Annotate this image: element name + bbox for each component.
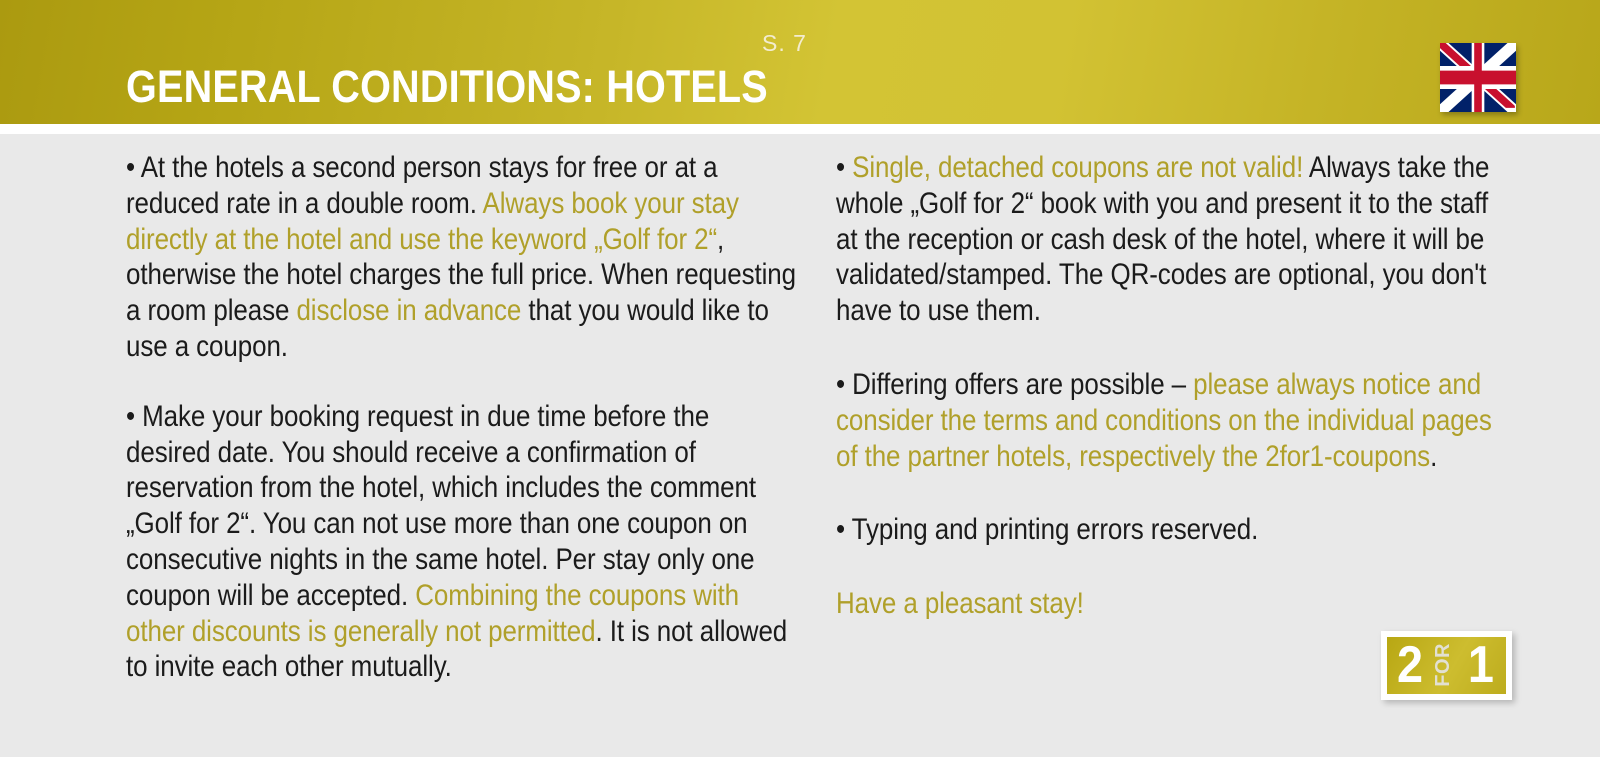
paragraph-typing-printing-errors: • Typing and printing errors reserved. (836, 512, 1512, 548)
text-run: Have a pleasant stay! (836, 587, 1084, 620)
uk-flag-svg (1440, 43, 1516, 112)
text-run: • (126, 151, 141, 184)
logo-denominator: 1 (1468, 637, 1494, 694)
paragraph-closing-greeting: Have a pleasant stay! (836, 586, 1512, 622)
paragraph-single-detached-coupons: • Single, detached coupons are not valid… (836, 150, 1512, 329)
slide-page: S. 7 GENERAL CONDITIONS: HOTELS • At the… (0, 0, 1600, 757)
text-run: Typing and printing errors reserved. (852, 513, 1259, 546)
logo-numerator: 2 (1397, 637, 1423, 694)
text-run: • (836, 368, 852, 401)
header-divider (0, 124, 1600, 134)
logo-connector-for: FOR (1433, 643, 1453, 687)
page-title: GENERAL CONDITIONS: HOTELS (126, 61, 768, 113)
text-run: • (836, 513, 852, 546)
text-run: . (1430, 440, 1437, 473)
text-run: Single, detached coupons are not valid! (852, 151, 1303, 184)
text-run: disclose in advance (296, 294, 521, 327)
content-area: • At the hotels a second person stays fo… (0, 134, 1600, 757)
two-for-one-logo-inner: 2 FOR 1 (1387, 637, 1506, 694)
text-run: Differing offers are possible – (852, 368, 1193, 401)
paragraph-booking-request-in-due-time: • Make your booking request in due time … (126, 399, 798, 685)
two-for-one-logo: 2 FOR 1 (1381, 631, 1512, 700)
paragraph-differing-offers: • Differing offers are possible – please… (836, 367, 1512, 474)
left-column: • At the hotels a second person stays fo… (126, 150, 798, 685)
paragraph-hotels-second-person: • At the hotels a second person stays fo… (126, 150, 798, 365)
text-run: • (836, 151, 852, 184)
right-column: • Single, detached coupons are not valid… (836, 150, 1512, 660)
uk-flag-icon (1440, 43, 1516, 112)
header-band: S. 7 GENERAL CONDITIONS: HOTELS (0, 0, 1600, 124)
text-run: • (126, 400, 142, 433)
page-number-marker: S. 7 (762, 30, 807, 57)
